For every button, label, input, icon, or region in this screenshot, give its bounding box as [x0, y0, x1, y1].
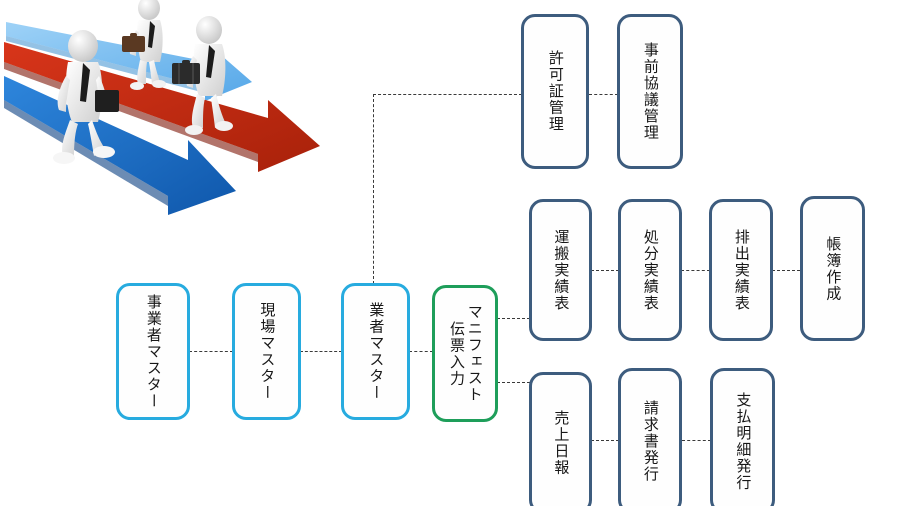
node-uriage-nippo[interactable]: 売上日報	[529, 372, 592, 506]
connector-gyosha-to-manifest	[409, 351, 433, 352]
node-jigyosha-master[interactable]: 事業者マスター	[116, 283, 190, 420]
node-gyosha-master[interactable]: 業者マスター	[341, 283, 410, 420]
node-shobun-jisseki[interactable]: 処分実績表	[618, 199, 682, 341]
node-label: 処分実績表	[641, 229, 659, 312]
connector-genba-to-gyosha	[300, 351, 342, 352]
connector-haishutsu-to-chobo	[772, 270, 800, 271]
node-label: マニフェスト伝票入力	[447, 300, 482, 408]
node-label: 排出実績表	[732, 229, 750, 312]
node-label: 現場マスター	[258, 302, 276, 401]
connector-seikyusho-to-shiharai	[682, 440, 711, 441]
node-label: 事業者マスター	[144, 294, 162, 410]
node-chobo-sakusei[interactable]: 帳簿作成	[800, 196, 865, 341]
node-label: 売上日報	[552, 410, 570, 476]
node-label: 支払明細発行	[734, 392, 752, 491]
connector-uriage-to-seikyusho	[591, 440, 619, 441]
manifest-label-line1: マニフェスト	[466, 304, 484, 403]
connector-manifest-to-uriage	[497, 382, 530, 383]
node-label: 業者マスター	[367, 302, 385, 401]
manifest-label-line2: 伝票入力	[448, 321, 466, 387]
node-shiharai-meisai-hakko[interactable]: 支払明細発行	[710, 368, 775, 506]
connector-permit-to-prior-consultation	[589, 94, 618, 95]
node-haishutsu-jisseki[interactable]: 排出実績表	[709, 199, 773, 341]
node-label: 帳簿作成	[824, 236, 842, 302]
node-label: 事前協議管理	[641, 42, 659, 141]
node-unpan-jisseki[interactable]: 運搬実績表	[529, 199, 592, 341]
node-label: 請求書発行	[641, 400, 659, 483]
connector-jigyosha-to-genba	[189, 351, 233, 352]
connector-gyosha-to-permit-vertical	[373, 94, 374, 284]
node-kyokasho-kanri[interactable]: 許可証管理	[521, 14, 589, 169]
node-label: 運搬実績表	[552, 229, 570, 312]
node-label: 許可証管理	[546, 50, 564, 133]
node-seikyusho-hakko[interactable]: 請求書発行	[618, 368, 682, 506]
connector-manifest-to-unpan	[497, 318, 530, 319]
node-genba-master[interactable]: 現場マスター	[232, 283, 301, 420]
node-jizen-kyogi[interactable]: 事前協議管理	[617, 14, 683, 169]
businessmen-arrows-illustration	[0, 0, 360, 232]
diagram-canvas: 事業者マスター 現場マスター 業者マスター マニフェスト伝票入力 許可証管理 事…	[0, 0, 903, 506]
connector-gyosha-to-permit-horizontal	[373, 94, 522, 95]
node-manifest-input[interactable]: マニフェスト伝票入力	[432, 285, 498, 422]
connector-unpan-to-shobun	[591, 270, 619, 271]
connector-shobun-to-haishutsu	[681, 270, 710, 271]
